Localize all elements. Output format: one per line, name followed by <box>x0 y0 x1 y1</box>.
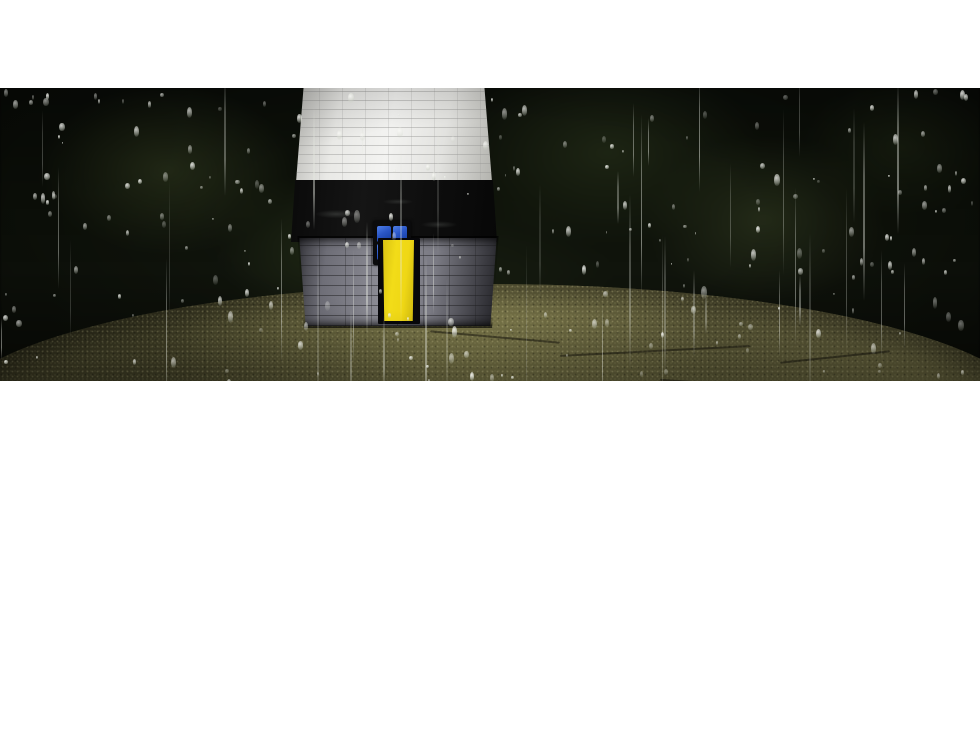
rainy-lighthouse-photo <box>0 88 980 381</box>
product-feature-banner: Product waterproof design Not afraid of … <box>0 0 980 735</box>
caption-area: Product waterproof design Not afraid of … <box>0 381 980 735</box>
photo-vignette <box>0 88 980 381</box>
